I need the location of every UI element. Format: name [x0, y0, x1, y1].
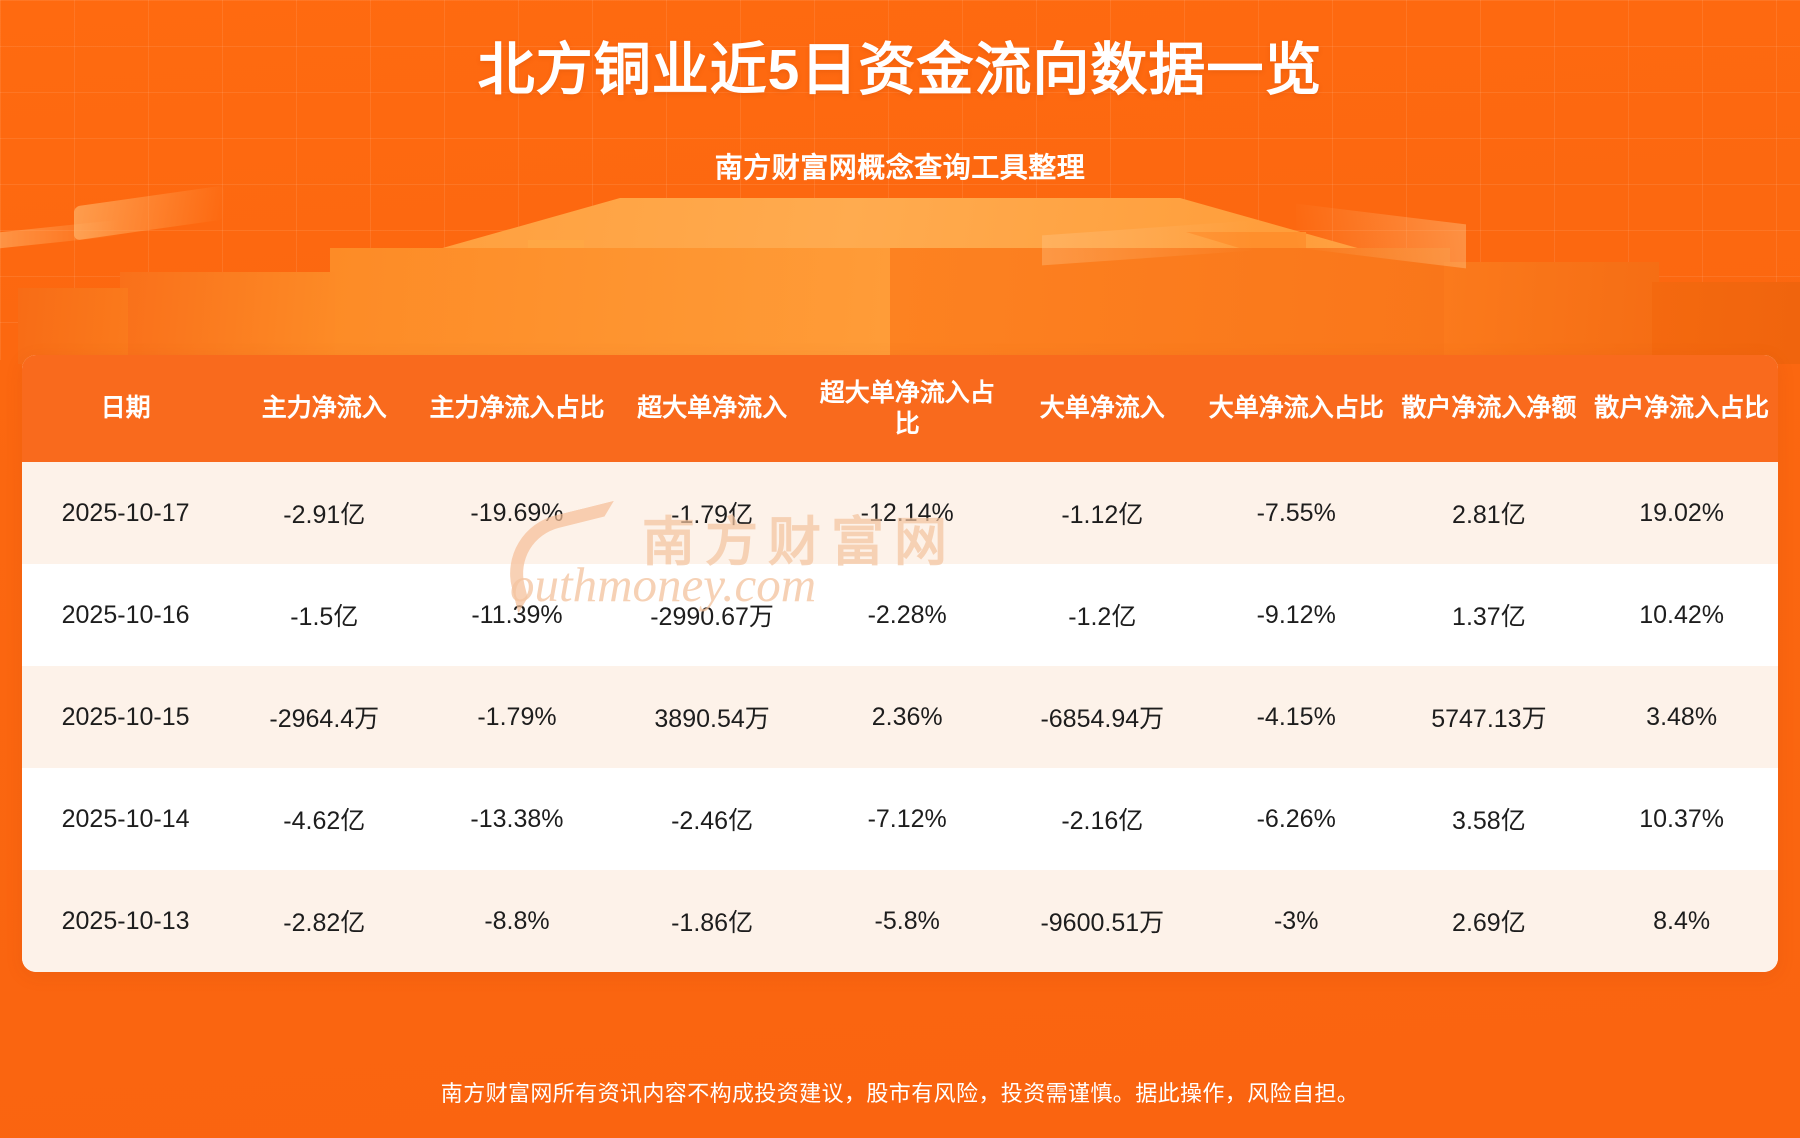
cell-date: 2025-10-13 — [22, 870, 229, 972]
light-streak-right — [1296, 204, 1466, 269]
cell-main-net-inflow-ratio: -8.8% — [419, 870, 614, 972]
cell-main-net-inflow-ratio: -1.79% — [419, 666, 614, 768]
cell-retail-net-ratio: 10.37% — [1585, 768, 1778, 870]
table-row: 2025-10-13 -2.82亿 -8.8% -1.86亿 -5.8% -96… — [22, 870, 1778, 972]
cell-date: 2025-10-15 — [22, 666, 229, 768]
table-row: 2025-10-16 -1.5亿 -11.39% -2990.67万 -2.28… — [22, 564, 1778, 666]
cell-retail-net-amount: 1.37亿 — [1393, 564, 1586, 666]
podium-wedge-block — [1186, 232, 1306, 268]
cell-xl-net-inflow-ratio: 2.36% — [810, 666, 1005, 768]
cell-xl-net-inflow-ratio: -7.12% — [810, 768, 1005, 870]
fund-flow-table-card: 日期 主力净流入 主力净流入占比 超大单净流入 超大单净流入占比 大单净流入 大… — [22, 355, 1778, 972]
table-row: 2025-10-14 -4.62亿 -13.38% -2.46亿 -7.12% … — [22, 768, 1778, 870]
light-streak-left — [0, 220, 120, 249]
table-header-row: 日期 主力净流入 主力净流入占比 超大单净流入 超大单净流入占比 大单净流入 大… — [22, 355, 1778, 462]
table-row: 2025-10-15 -2964.4万 -1.79% 3890.54万 2.36… — [22, 666, 1778, 768]
light-streak-center-right — [1042, 221, 1252, 266]
page-title: 北方铜业近5日资金流向数据一览 — [0, 38, 1800, 104]
cell-xl-net-inflow-ratio: -2.28% — [810, 564, 1005, 666]
cell-xl-net-inflow: -2.46亿 — [615, 768, 810, 870]
cell-large-net-inflow-ratio: -9.12% — [1200, 564, 1393, 666]
podium-middle-right-block — [890, 248, 1450, 363]
cell-main-net-inflow-ratio: -11.39% — [419, 564, 614, 666]
column-header-large-net-inflow: 大单净流入 — [1005, 355, 1200, 462]
column-header-large-net-inflow-ratio: 大单净流入占比 — [1200, 355, 1393, 462]
cell-retail-net-amount: 3.58亿 — [1393, 768, 1586, 870]
column-header-main-net-inflow: 主力净流入 — [229, 355, 419, 462]
cell-retail-net-ratio: 19.02% — [1585, 462, 1778, 564]
cell-retail-net-ratio: 10.42% — [1585, 564, 1778, 666]
fund-flow-table: 日期 主力净流入 主力净流入占比 超大单净流入 超大单净流入占比 大单净流入 大… — [22, 355, 1778, 972]
cell-main-net-inflow: -1.5亿 — [229, 564, 419, 666]
podium-far-left-block — [120, 272, 335, 364]
podium-edge-left-block — [18, 288, 128, 364]
cell-date: 2025-10-14 — [22, 768, 229, 870]
cell-main-net-inflow-ratio: -19.69% — [419, 462, 614, 564]
table-body: 2025-10-17 -2.91亿 -19.69% -1.79亿 -12.14%… — [22, 462, 1778, 972]
cell-main-net-inflow: -4.62亿 — [229, 768, 419, 870]
cell-large-net-inflow-ratio: -3% — [1200, 870, 1393, 972]
cell-retail-net-ratio: 3.48% — [1585, 666, 1778, 768]
cell-xl-net-inflow: -2990.67万 — [615, 564, 810, 666]
disclaimer-text: 南方财富网所有资讯内容不构成投资建议，股市有风险，投资需谨慎。据此操作，风险自担… — [0, 1076, 1800, 1108]
cell-xl-net-inflow: -1.79亿 — [615, 462, 810, 564]
cell-date: 2025-10-16 — [22, 564, 229, 666]
cell-large-net-inflow-ratio: -4.15% — [1200, 666, 1393, 768]
cell-large-net-inflow-ratio: -7.55% — [1200, 462, 1393, 564]
column-header-xl-net-inflow-ratio: 超大单净流入占比 — [810, 355, 1005, 462]
cell-xl-net-inflow-ratio: -12.14% — [810, 462, 1005, 564]
light-streak-upper-left — [74, 185, 224, 240]
cell-retail-net-amount: 2.81亿 — [1393, 462, 1586, 564]
podium-far-right-block — [1444, 262, 1659, 362]
cell-large-net-inflow: -2.16亿 — [1005, 768, 1200, 870]
cell-main-net-inflow: -2964.4万 — [229, 666, 419, 768]
page-subtitle: 南方财富网概念查询工具整理 — [0, 146, 1800, 186]
cell-retail-net-amount: 5747.13万 — [1393, 666, 1586, 768]
podium-middle-left-block — [330, 248, 890, 363]
podium-top-block — [400, 198, 1400, 260]
cell-large-net-inflow: -9600.51万 — [1005, 870, 1200, 972]
cell-large-net-inflow-ratio: -6.26% — [1200, 768, 1393, 870]
cell-retail-net-ratio: 8.4% — [1585, 870, 1778, 972]
column-header-xl-net-inflow: 超大单净流入 — [615, 355, 810, 462]
cell-large-net-inflow: -6854.94万 — [1005, 666, 1200, 768]
cell-main-net-inflow: -2.91亿 — [229, 462, 419, 564]
table-row: 2025-10-17 -2.91亿 -19.69% -1.79亿 -12.14%… — [22, 462, 1778, 564]
cell-retail-net-amount: 2.69亿 — [1393, 870, 1586, 972]
column-header-retail-net-ratio: 散户净流入占比 — [1585, 355, 1778, 462]
infographic-canvas: 北方铜业近5日资金流向数据一览 南方财富网概念查询工具整理 日期 主力净流入 主… — [0, 0, 1800, 1138]
cell-large-net-inflow: -1.2亿 — [1005, 564, 1200, 666]
cell-main-net-inflow-ratio: -13.38% — [419, 768, 614, 870]
cell-xl-net-inflow-ratio: -5.8% — [810, 870, 1005, 972]
cell-large-net-inflow: -1.12亿 — [1005, 462, 1200, 564]
cell-xl-net-inflow: -1.86亿 — [615, 870, 810, 972]
column-header-main-net-inflow-ratio: 主力净流入占比 — [419, 355, 614, 462]
column-header-date: 日期 — [22, 355, 229, 462]
column-header-retail-net-amount: 散户净流入净额 — [1393, 355, 1586, 462]
cell-date: 2025-10-17 — [22, 462, 229, 564]
cell-main-net-inflow: -2.82亿 — [229, 870, 419, 972]
podium-notch-block — [528, 240, 584, 266]
cell-xl-net-inflow: 3890.54万 — [615, 666, 810, 768]
podium-edge-right-block — [1652, 282, 1800, 364]
